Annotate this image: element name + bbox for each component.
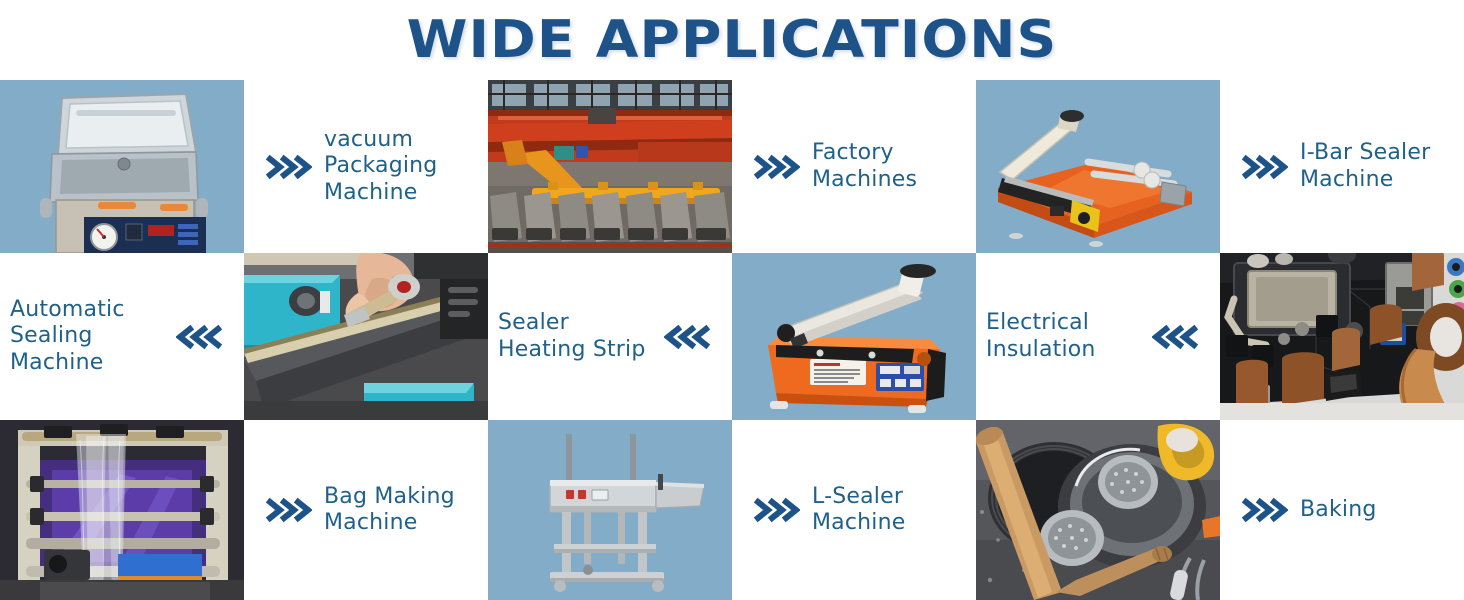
electrical-insulation-label: Electrical Insulation [976, 253, 1220, 420]
wide-applications-infographic: WIDE APPLICATIONS [0, 0, 1464, 600]
label-text: vacuum Packaging Machine [324, 127, 478, 206]
label-text: I-Bar Sealer Machine [1300, 140, 1454, 193]
baking-photo [976, 420, 1220, 600]
label-text: Electrical Insulation [986, 310, 1140, 363]
chevrons-left-icon [664, 324, 710, 350]
chevrons-right-icon [1242, 154, 1288, 180]
label-text: Factory Machines [812, 140, 966, 193]
sealer-heating-strip-photo [732, 253, 976, 420]
applications-grid: vacuum Packaging Machine [0, 80, 1464, 600]
electrical-insulation-photo [1220, 253, 1464, 420]
factory-machines-photo [488, 80, 732, 253]
page-header: WIDE APPLICATIONS [0, 0, 1464, 80]
label-text: Bag Making Machine [324, 484, 478, 537]
chevrons-right-icon [1242, 497, 1288, 523]
i-bar-sealer-machine-photo [976, 80, 1220, 253]
factory-machines-label: Factory Machines [732, 80, 976, 253]
vacuum-packaging-machine-label: vacuum Packaging Machine [244, 80, 488, 253]
label-text: Sealer Heating Strip [498, 310, 652, 363]
label-line-spread: I-Bar Sealer [1300, 140, 1430, 165]
chevrons-right-icon [266, 497, 312, 523]
chevrons-left-icon [1152, 324, 1198, 350]
automatic-sealing-machine-photo [244, 253, 488, 420]
page-title: WIDE APPLICATIONS [407, 10, 1058, 70]
sealer-heating-strip-label: Sealer Heating Strip [488, 253, 732, 420]
automatic-sealing-machine-label: Automatic Sealing Machine [0, 253, 244, 420]
bag-making-machine-label: Bag Making Machine [244, 420, 488, 600]
l-sealer-machine-label: L-Sealer Machine [732, 420, 976, 600]
label-text: Baking [1300, 497, 1377, 523]
chevrons-right-icon [754, 497, 800, 523]
label-text: L-Sealer Machine [812, 484, 966, 537]
baking-label: Baking [1220, 420, 1464, 600]
bag-making-machine-photo [0, 420, 244, 600]
chevrons-right-icon [754, 154, 800, 180]
label-text: Automatic Sealing Machine [10, 297, 164, 376]
l-sealer-machine-photo [488, 420, 732, 600]
vacuum-packaging-machine-photo [0, 80, 244, 253]
chevrons-right-icon [266, 154, 312, 180]
chevrons-left-icon [176, 324, 222, 350]
i-bar-sealer-machine-label: I-Bar Sealer Machine [1220, 80, 1464, 253]
